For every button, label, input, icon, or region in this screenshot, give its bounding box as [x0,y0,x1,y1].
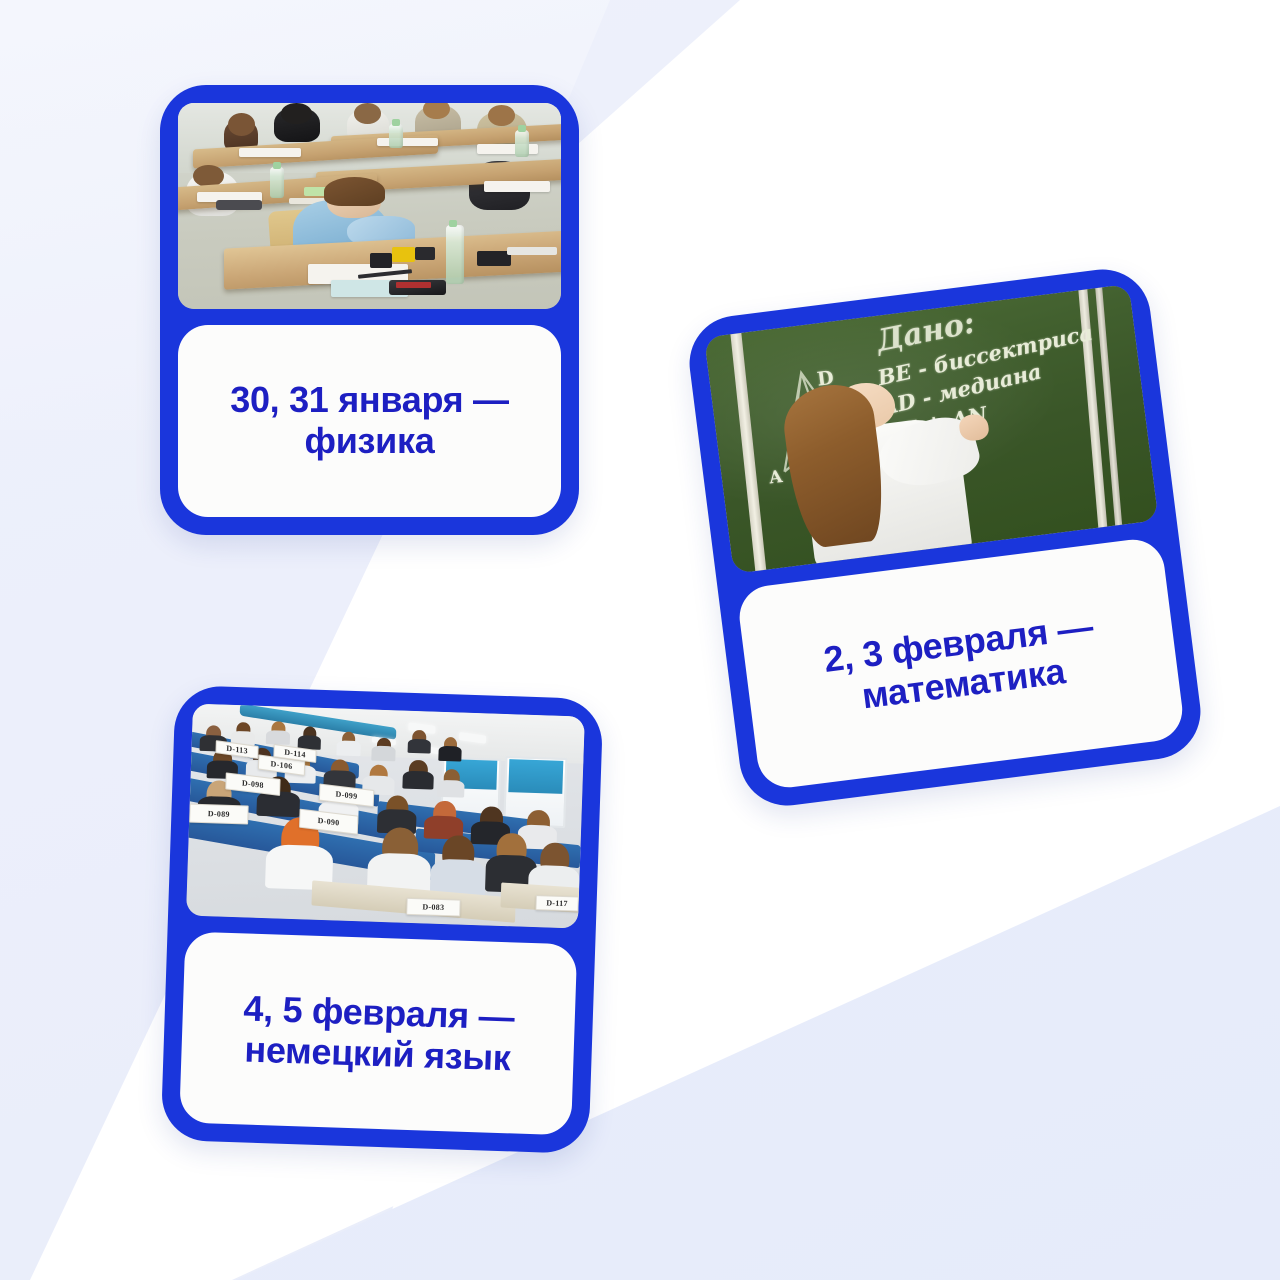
math-label-box: 2, 3 февраля — математика [736,536,1186,791]
student-at-board-figure [779,363,998,572]
physics-label-text: 30, 31 января — физика [230,380,509,461]
desk-placard: D-089 [189,803,248,824]
poster-canvas: 30, 31 января — физика D C A Дано: BE - … [0,0,1280,1280]
schedule-card-physics[interactable]: 30, 31 января — физика [160,85,579,535]
lecture-hall-illustration: D-089 D-090 D-098 D-099 D-106 D-083 D-11… [186,704,585,929]
german-label-box: 4, 5 февраля — немецкий язык [179,931,577,1135]
lecture-hall-photo: D-089 D-090 D-098 D-099 D-106 D-083 D-11… [186,704,585,929]
german-label-text: 4, 5 февраля — немецкий язык [241,988,514,1078]
schedule-card-german[interactable]: D-089 D-090 D-098 D-099 D-106 D-083 D-11… [161,685,604,1154]
desk-placard: D-083 [406,897,461,916]
physics-label-box: 30, 31 января — физика [178,325,561,517]
schedule-card-math[interactable]: D C A Дано: BE - биссектриса AD - медиан… [684,264,1206,811]
math-label-text: 2, 3 февраля — математика [821,606,1100,721]
chalk-point-a: A [768,467,784,488]
physics-classroom-photo [178,103,561,309]
chalkboard-geometry-photo: D C A Дано: BE - биссектриса AD - медиан… [704,284,1158,574]
desk-placard: D-117 [535,895,579,911]
chalkboard-illustration: D C A Дано: BE - биссектриса AD - медиан… [704,284,1158,574]
physics-classroom-illustration [178,103,561,309]
